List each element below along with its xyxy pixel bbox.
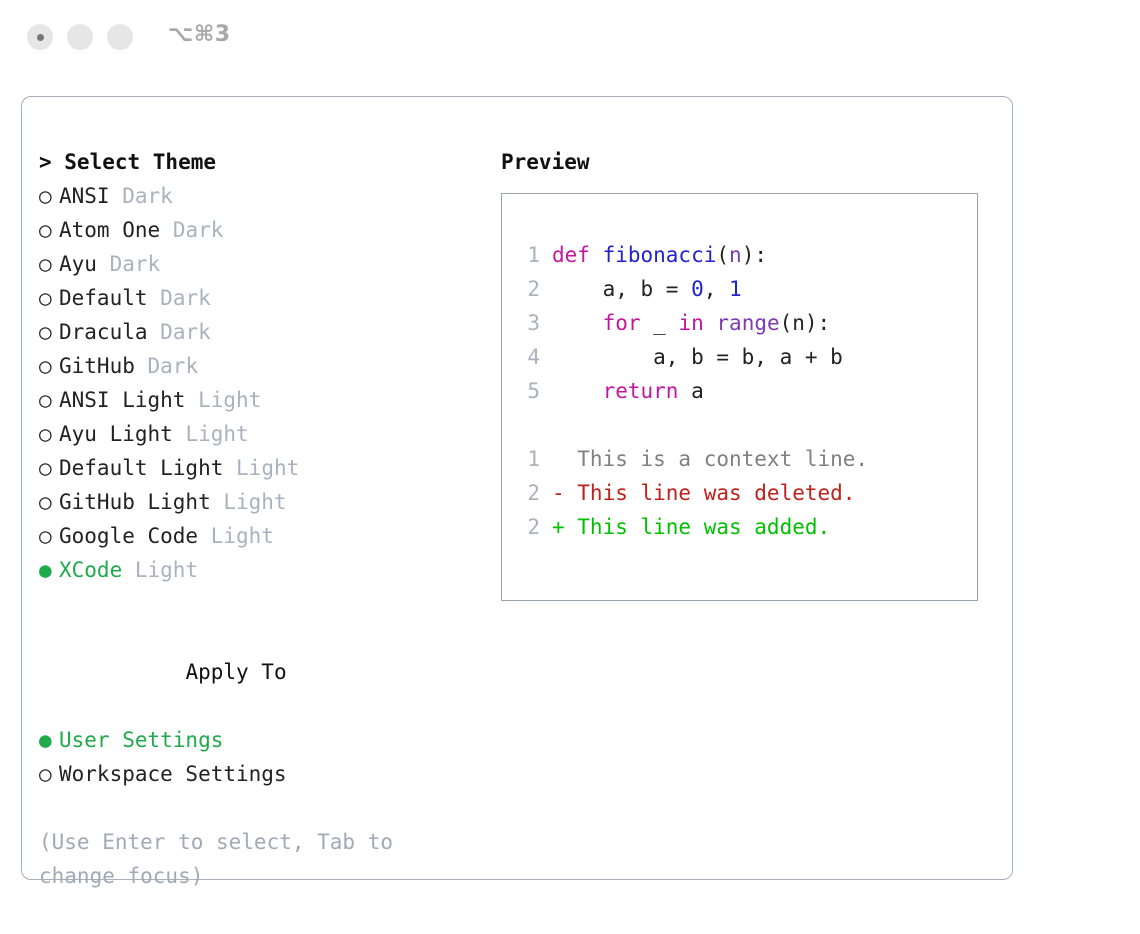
radio-unselected-icon: ○ — [39, 247, 59, 281]
apply-to-block: Apply To ●User Settings○Workspace Settin… — [39, 621, 469, 791]
theme-option-row[interactable]: ○Dracula Dark — [39, 315, 469, 349]
theme-option-row[interactable]: ○Default Dark — [39, 281, 469, 315]
code-token: in — [678, 311, 703, 335]
theme-option-label: GitHub — [59, 354, 135, 378]
diff-line-text: - This line was deleted. — [552, 481, 855, 505]
theme-list[interactable]: ○ANSI Dark○Atom One Dark○Ayu Dark○Defaul… — [39, 179, 469, 587]
theme-selector-column: > Select Theme ○ANSI Dark○Atom One Dark○… — [39, 145, 469, 893]
main-panel: > Select Theme ○ANSI Dark○Atom One Dark○… — [21, 96, 1013, 880]
theme-option-label: Ayu — [59, 252, 97, 276]
theme-option-row[interactable]: ○Ayu Dark — [39, 247, 469, 281]
diff-line: 2- This line was deleted. — [518, 476, 868, 510]
code-token: 1 — [729, 277, 742, 301]
window-controls — [27, 24, 133, 50]
keyboard-hint-text: (Use Enter to select, Tab to change focu… — [39, 825, 439, 893]
code-token — [552, 311, 603, 335]
theme-option-category: Dark — [110, 252, 161, 276]
radio-selected-icon: ● — [39, 723, 59, 757]
code-line: 1def fibonacci(n): — [518, 238, 868, 272]
preview-column: Preview 1def fibonacci(n):2 a, b = 0, 13… — [501, 145, 991, 601]
apply-to-option-label: Workspace Settings — [59, 762, 287, 786]
code-token — [552, 379, 603, 403]
select-theme-header: > Select Theme — [39, 145, 469, 179]
radio-unselected-icon: ○ — [39, 485, 59, 519]
preview-title: Preview — [501, 145, 991, 179]
theme-option-label: GitHub Light — [59, 490, 211, 514]
apply-to-option-label: User Settings — [59, 728, 223, 752]
theme-option-row[interactable]: ○Default Light Light — [39, 451, 469, 485]
theme-option-category: Dark — [148, 354, 199, 378]
theme-option-row[interactable]: ○GitHub Light Light — [39, 485, 469, 519]
radio-unselected-icon: ○ — [39, 179, 59, 213]
theme-option-row[interactable]: ○Ayu Light Light — [39, 417, 469, 451]
theme-option-label: Google Code — [59, 524, 198, 548]
radio-unselected-icon: ○ — [39, 417, 59, 451]
code-token: return — [603, 379, 679, 403]
code-line: 2 a, b = 0, 1 — [518, 272, 868, 306]
diff-line: 1 This is a context line. — [518, 442, 868, 476]
code-token: def — [552, 243, 603, 267]
radio-unselected-icon: ○ — [39, 213, 59, 247]
theme-option-label: Ayu Light — [59, 422, 173, 446]
code-line: 5 return a — [518, 374, 868, 408]
code-line-number: 1 — [518, 238, 540, 272]
theme-option-row[interactable]: ○ANSI Light Light — [39, 383, 469, 417]
radio-unselected-icon: ○ — [39, 451, 59, 485]
code-preview: 1def fibonacci(n):2 a, b = 0, 13 for _ i… — [518, 238, 868, 544]
theme-option-category: Light — [135, 558, 198, 582]
diff-line-number: 2 — [518, 510, 540, 544]
code-token: (n): — [780, 311, 831, 335]
theme-option-label: ANSI — [59, 184, 110, 208]
diff-line-number: 1 — [518, 442, 540, 476]
radio-selected-icon: ● — [39, 553, 59, 587]
code-token: _ — [641, 311, 679, 335]
code-line: 4 a, b = b, a + b — [518, 340, 868, 374]
code-line: 3 for _ in range(n): — [518, 306, 868, 340]
code-token: a — [678, 379, 703, 403]
window-dot-close[interactable] — [27, 24, 53, 50]
theme-option-category: Light — [185, 422, 248, 446]
apply-to-option-row[interactable]: ○Workspace Settings — [39, 757, 469, 791]
theme-option-category: Dark — [160, 320, 211, 344]
theme-option-category: Dark — [173, 218, 224, 242]
preview-spacer — [518, 408, 868, 442]
window-dot-maximize[interactable] — [107, 24, 133, 50]
radio-unselected-icon: ○ — [39, 349, 59, 383]
theme-option-category: Light — [211, 524, 274, 548]
code-token: ( — [716, 243, 729, 267]
apply-to-header-label: Apply To — [185, 660, 286, 684]
radio-unselected-icon: ○ — [39, 757, 59, 791]
apply-to-indent — [165, 655, 185, 689]
radio-unselected-icon: ○ — [39, 281, 59, 315]
diff-line-text: + This line was added. — [552, 515, 830, 539]
app-window: ⌥⌘3 > Select Theme ○ANSI Dark○Atom One D… — [0, 0, 1140, 934]
theme-option-row[interactable]: ○ANSI Dark — [39, 179, 469, 213]
diff-line: 2+ This line was added. — [518, 510, 868, 544]
keyboard-shortcut-label: ⌥⌘3 — [168, 22, 231, 47]
apply-to-option-row[interactable]: ●User Settings — [39, 723, 469, 757]
theme-option-label: Default — [59, 286, 148, 310]
window-dot-inner — [37, 34, 44, 41]
code-token: for — [603, 311, 641, 335]
code-token: a, b = — [552, 277, 691, 301]
code-line-number: 5 — [518, 374, 540, 408]
theme-option-category: Dark — [122, 184, 173, 208]
theme-option-label: ANSI Light — [59, 388, 185, 412]
diff-line-text: This is a context line. — [552, 447, 868, 471]
theme-option-label: Dracula — [59, 320, 148, 344]
window-dot-minimize[interactable] — [67, 24, 93, 50]
code-token: n — [729, 243, 742, 267]
theme-option-category: Light — [198, 388, 261, 412]
theme-option-label: Default Light — [59, 456, 223, 480]
code-token: ): — [742, 243, 767, 267]
theme-option-category: Light — [223, 490, 286, 514]
code-token: range — [716, 311, 779, 335]
diff-line-number: 2 — [518, 476, 540, 510]
code-token: fibonacci — [603, 243, 717, 267]
code-token: 0 — [691, 277, 704, 301]
theme-option-category: Light — [236, 456, 299, 480]
radio-unselected-icon: ○ — [39, 315, 59, 349]
theme-option-category: Dark — [160, 286, 211, 310]
code-line-number: 4 — [518, 340, 540, 374]
theme-option-label: XCode — [59, 558, 122, 582]
radio-unselected-icon: ○ — [39, 519, 59, 553]
title-bar: ⌥⌘3 — [0, 0, 1140, 82]
code-line-number: 2 — [518, 272, 540, 306]
code-token: a, b = b, a + b — [552, 345, 843, 369]
code-token: , — [704, 277, 729, 301]
theme-option-row[interactable]: ●XCode Light — [39, 553, 469, 587]
theme-option-row[interactable]: ○GitHub Dark — [39, 349, 469, 383]
theme-option-row[interactable]: ○Atom One Dark — [39, 213, 469, 247]
code-line-number: 3 — [518, 306, 540, 340]
theme-option-label: Atom One — [59, 218, 160, 242]
radio-unselected-icon: ○ — [39, 383, 59, 417]
apply-to-header: Apply To — [39, 621, 469, 723]
code-token — [704, 311, 717, 335]
theme-option-row[interactable]: ○Google Code Light — [39, 519, 469, 553]
preview-box: 1def fibonacci(n):2 a, b = 0, 13 for _ i… — [501, 193, 978, 601]
apply-to-list[interactable]: ●User Settings○Workspace Settings — [39, 723, 469, 791]
